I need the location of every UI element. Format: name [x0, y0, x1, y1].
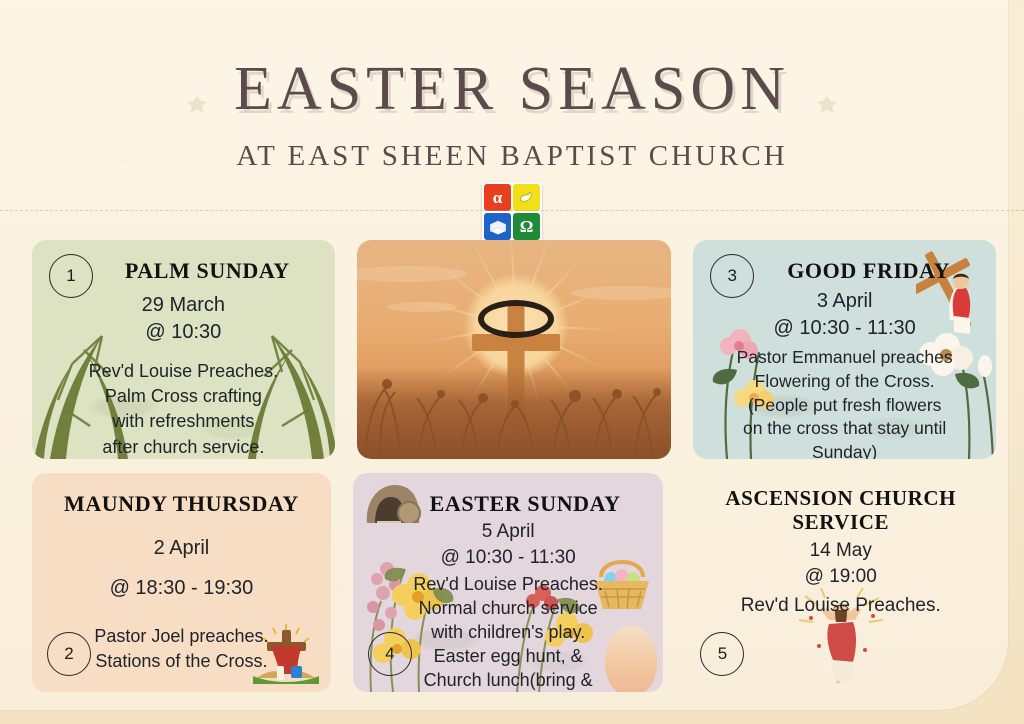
desc-line: Sunday) — [693, 441, 996, 459]
card-number-badge: 2 — [47, 632, 91, 676]
page-title: EASTER SEASON — [0, 58, 1024, 120]
card-title-line2: SERVICE — [685, 511, 996, 535]
card-number-badge: 4 — [368, 632, 412, 676]
poster-header: EASTER SEASON AT EAST SHEEN BAPTIST CHUR… — [0, 58, 1024, 171]
card-date: 5 April — [353, 519, 664, 544]
desc-line: Rev'd Louise Preaches. — [353, 573, 664, 596]
event-card-maundy-thursday[interactable]: 2 MAUNDY THURSDAY 2 April @ 18:30 - 19:3… — [32, 473, 331, 692]
card-body: 3 April @ 10:30 - 11:30 Pastor Emmanuel … — [693, 288, 996, 459]
card-date: 14 May — [685, 538, 996, 563]
card-time: @ 18:30 - 19:30 — [32, 575, 331, 602]
desc-line: with refreshments — [32, 409, 335, 433]
grass-blades — [357, 240, 672, 459]
desc-line: after church service. — [32, 435, 335, 459]
logo-omega-icon: Ω — [513, 213, 540, 240]
desc-line: on the cross that stay until — [693, 417, 996, 440]
card-title: MAUNDY THURSDAY — [32, 473, 331, 517]
events-grid: 1 PALM SUNDAY 29 March @ 10:30 Rev'd Lou… — [32, 240, 996, 692]
card-number-badge: 5 — [700, 632, 744, 676]
desc-line: Pastor Emmanuel preaches — [693, 346, 996, 369]
desc-line: Normal church service — [353, 597, 664, 620]
card-title: ASCENSION CHURCH SERVICE — [685, 473, 996, 534]
desc-line: Rev'd Louise Preaches. — [685, 593, 996, 618]
card-time: @ 10:30 - 11:30 — [353, 545, 664, 570]
card-time: @ 10:30 — [32, 319, 335, 346]
card-time: @ 10:30 - 11:30 — [693, 315, 996, 342]
card-description: Pastor Emmanuel preaches Flowering of th… — [693, 346, 996, 459]
desc-line: Flowering of the Cross. — [693, 370, 996, 393]
card-description: Rev'd Louise Preaches. Normal church ser… — [353, 573, 664, 692]
cross-sunset-image — [357, 240, 672, 459]
header-divider — [0, 210, 1024, 212]
card-number-badge: 1 — [49, 254, 93, 298]
event-card-palm-sunday[interactable]: 1 PALM SUNDAY 29 March @ 10:30 Rev'd Lou… — [32, 240, 335, 459]
card-date: 2 April — [32, 535, 331, 562]
card-time: @ 19:00 — [685, 564, 996, 589]
desc-line: (People put fresh flowers — [693, 394, 996, 417]
poster: EASTER SEASON AT EAST SHEEN BAPTIST CHUR… — [0, 0, 1024, 724]
card-description: Rev'd Louise Preaches. Palm Cross crafti… — [32, 359, 335, 458]
leaf-ornament-left-icon — [186, 95, 208, 115]
desc-line: Palm Cross crafting — [32, 384, 335, 408]
page-subtitle: AT EAST SHEEN BAPTIST CHURCH — [0, 142, 1024, 171]
card-number-badge: 3 — [710, 254, 754, 298]
logo-alpha-icon: α — [484, 184, 511, 211]
event-card-easter-sunday[interactable]: 4 EASTER SUNDAY 5 April @ 10:30 - 11:30 … — [353, 473, 664, 692]
card-description: Rev'd Louise Preaches. — [685, 593, 996, 618]
card-body: 29 March @ 10:30 Rev'd Louise Preaches. … — [32, 292, 335, 459]
logo-dove-icon — [513, 184, 540, 211]
leaf-ornament-right-icon — [816, 95, 838, 115]
event-card-ascension[interactable]: 5 ASCENSION CHURCH SERVICE 14 May @ 19:0… — [685, 473, 996, 692]
logo-bible-icon — [484, 213, 511, 240]
card-body: 14 May @ 19:00 Rev'd Louise Preaches. — [685, 538, 996, 618]
church-logo: α Ω — [482, 182, 542, 242]
event-card-good-friday[interactable]: 3 GOOD FRIDAY 3 April @ 10:30 - 11:30 Pa… — [693, 240, 996, 459]
hero-image-card — [357, 240, 672, 459]
card-title-line1: ASCENSION CHURCH — [685, 487, 996, 511]
desc-line: Rev'd Louise Preaches. — [32, 359, 335, 383]
card-title: EASTER SUNDAY — [353, 473, 664, 517]
